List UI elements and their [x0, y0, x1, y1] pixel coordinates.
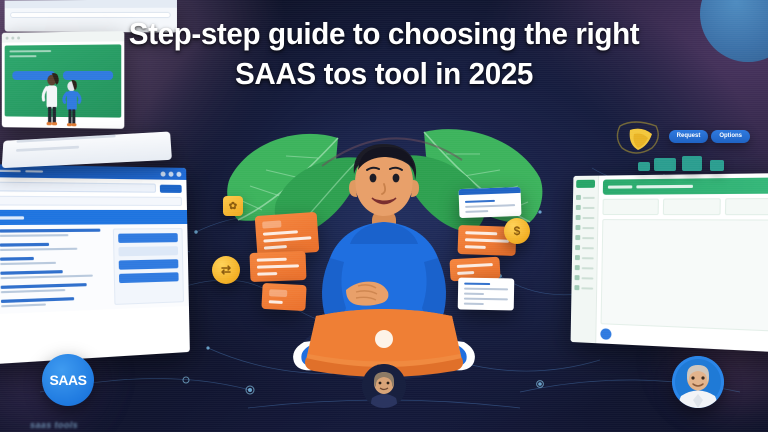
- teal-box-3: [710, 160, 724, 171]
- illustrated-person-with-laptop: [254, 118, 514, 388]
- sidebar-item-inbox[interactable]: [576, 205, 595, 210]
- nav-item-reports[interactable]: [25, 170, 43, 172]
- browser-titlebar: [5, 0, 177, 8]
- tag-badge-left[interactable]: ✿: [223, 196, 243, 216]
- green-dashboard-mock[interactable]: [571, 173, 768, 353]
- request-button[interactable]: Request: [669, 130, 709, 143]
- sidebar-item-reports[interactable]: [575, 245, 594, 250]
- hero-banner: Step-step guide to choosing the right SA…: [0, 0, 768, 432]
- right-person-avatar[interactable]: [672, 356, 724, 408]
- table-row[interactable]: [0, 242, 109, 253]
- headline-line-1: Step-step guide to choosing the right: [129, 16, 640, 51]
- section-header-work-items: [0, 210, 187, 225]
- stat-card-active: [602, 199, 658, 216]
- sidebar-item-deals[interactable]: [576, 215, 595, 220]
- work-item-list: [0, 229, 110, 311]
- saas-logo-label: SAAS: [50, 372, 87, 388]
- green-app-logo-icon: [576, 180, 595, 188]
- bell-icon[interactable]: [161, 171, 166, 176]
- teal-box-1: [654, 158, 676, 171]
- bottom-strip: SAAS saas tools: [0, 356, 768, 432]
- table-row[interactable]: [0, 229, 109, 240]
- compare-plans-button[interactable]: [118, 246, 178, 256]
- green-sidebar: [571, 176, 600, 344]
- stat-card-row: [602, 198, 768, 215]
- table-row[interactable]: [0, 269, 109, 282]
- stat-card-open: [662, 198, 721, 215]
- stat-card-done: [725, 198, 768, 215]
- sidebar-item-files[interactable]: [575, 255, 594, 260]
- nav-item-menu[interactable]: [0, 170, 21, 173]
- view-details-button[interactable]: [118, 259, 178, 270]
- page-title: Step-step guide to choosing the right SA…: [17, 14, 750, 95]
- content-block: [601, 219, 768, 332]
- sidebar-item-teams[interactable]: [575, 265, 594, 270]
- table-row[interactable]: [0, 296, 110, 310]
- search-input[interactable]: [0, 181, 156, 192]
- green-main-content: [596, 173, 768, 353]
- sidebar-item-setup[interactable]: [574, 285, 593, 291]
- dashboard-body: [0, 224, 189, 315]
- sidebar-item-calls[interactable]: [575, 235, 594, 240]
- table-row[interactable]: [0, 255, 109, 267]
- start-trial-button[interactable]: [118, 233, 178, 243]
- center-face-avatar[interactable]: [362, 364, 406, 408]
- top-right-button-group: Request Options: [669, 130, 750, 143]
- promo-banner[interactable]: [603, 177, 768, 194]
- saas-logo-badge[interactable]: SAAS: [42, 354, 94, 406]
- side-action-panel: [113, 228, 184, 305]
- nav-icon-group: [161, 171, 182, 176]
- headline-line-2: SAAS tos tool in 2025: [50, 54, 719, 94]
- table-row[interactable]: [0, 282, 110, 296]
- compose-button[interactable]: [600, 328, 611, 340]
- export-report-button[interactable]: [119, 272, 179, 283]
- logo-caption: saas tools: [30, 420, 140, 430]
- search-go-button[interactable]: [160, 184, 182, 192]
- sidebar-item-home[interactable]: [576, 195, 595, 200]
- gold-ornament-decoration: [612, 120, 672, 162]
- user-icon[interactable]: [176, 171, 181, 176]
- teal-box-2: [682, 156, 702, 171]
- filter-bar[interactable]: [0, 196, 182, 206]
- blue-dashboard-mock[interactable]: [0, 164, 190, 365]
- sidebar-item-tasks[interactable]: [575, 225, 594, 230]
- dashboard-search-row: [0, 177, 187, 197]
- options-button[interactable]: Options: [711, 130, 750, 143]
- grid-icon[interactable]: [168, 171, 173, 176]
- sidebar-item-billing[interactable]: [575, 275, 594, 280]
- teal-box-4: [638, 162, 650, 171]
- share-badge-left[interactable]: ⇄: [212, 256, 240, 284]
